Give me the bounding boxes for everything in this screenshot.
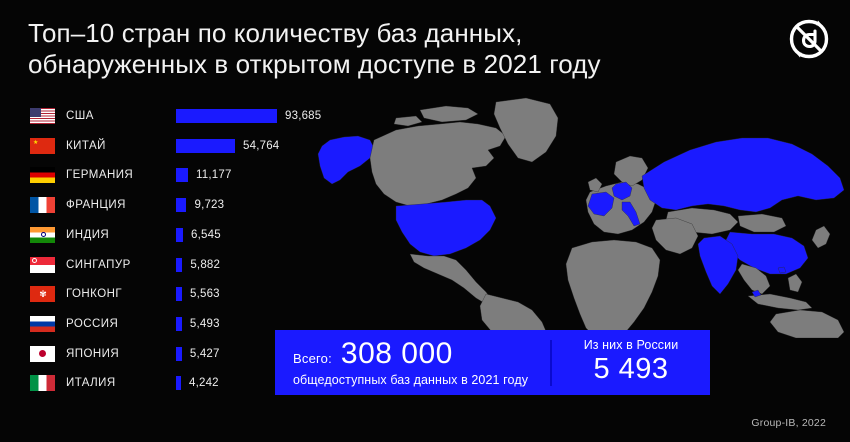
map-country-usa bbox=[396, 200, 496, 256]
summary-panel: Всего: 308 000 общедоступных баз данных … bbox=[275, 330, 710, 395]
map-country-russia bbox=[642, 138, 844, 212]
map-country-usa-alaska bbox=[318, 136, 374, 184]
source-credit: Group-IB, 2022 bbox=[751, 417, 826, 429]
map-continent-africa bbox=[566, 240, 660, 338]
bar-row: 4,242 bbox=[176, 373, 219, 393]
summary-total-label: Всего: bbox=[293, 351, 332, 366]
map-country-greenland bbox=[494, 98, 558, 162]
group-ib-logo bbox=[786, 16, 832, 62]
map-country-philippines bbox=[788, 274, 802, 292]
ranking-row: ИТАЛИЯ bbox=[30, 373, 116, 393]
bar-row: 9,723 bbox=[176, 195, 224, 215]
flag-icon-sg bbox=[30, 257, 55, 273]
bar-row: 5,493 bbox=[176, 314, 220, 334]
ranking-row: ЯПОНИЯ bbox=[30, 344, 119, 364]
summary-russia-label: Из них в России bbox=[552, 338, 710, 352]
bar-row: 5,882 bbox=[176, 255, 220, 275]
map-country-mexico bbox=[410, 254, 492, 304]
bar-value-label: 5,882 bbox=[190, 259, 220, 271]
page-title: Топ–10 стран по количеству баз данных, о… bbox=[28, 18, 728, 80]
country-name: СИНГАПУР bbox=[66, 259, 131, 271]
bar bbox=[176, 258, 182, 272]
bar-value-label: 4,242 bbox=[189, 377, 219, 389]
ranking-row: США bbox=[30, 106, 94, 126]
map-country-japan bbox=[812, 226, 830, 248]
flag-icon-de bbox=[30, 167, 55, 183]
ranking-row: ИНДИЯ bbox=[30, 225, 109, 245]
world-map bbox=[300, 88, 850, 338]
ranking-row: СИНГАПУР bbox=[30, 255, 131, 275]
map-arctic-islands bbox=[420, 106, 478, 122]
country-name: ИТАЛИЯ bbox=[66, 377, 116, 389]
bar-value-label: 6,545 bbox=[191, 229, 221, 241]
bar-value-label: 5,563 bbox=[190, 288, 220, 300]
bar-row: 11,177 bbox=[176, 165, 232, 185]
map-country-india bbox=[698, 236, 738, 294]
flag-icon-it bbox=[30, 375, 55, 391]
bar bbox=[176, 287, 182, 301]
bar-value-label: 54,764 bbox=[243, 140, 279, 152]
map-region-indonesia bbox=[748, 294, 812, 310]
bar-value-label: 5,427 bbox=[190, 348, 220, 360]
bar-row: 5,427 bbox=[176, 344, 220, 364]
bar bbox=[176, 198, 186, 212]
country-name: ФРАНЦИЯ bbox=[66, 199, 126, 211]
summary-russia-block: Из них в России 5 493 bbox=[552, 338, 710, 386]
country-name: США bbox=[66, 110, 94, 122]
bar-value-label: 93,685 bbox=[285, 110, 321, 122]
flag-icon-jp bbox=[30, 346, 55, 362]
bar bbox=[176, 168, 188, 182]
map-country-mongolia bbox=[738, 214, 786, 232]
summary-russia-value: 5 493 bbox=[552, 354, 710, 384]
country-name: ИНДИЯ bbox=[66, 229, 109, 241]
bar bbox=[176, 228, 183, 242]
map-country-canada bbox=[370, 122, 506, 206]
ranking-row: РОССИЯ bbox=[30, 314, 118, 334]
bar bbox=[176, 139, 235, 153]
flag-icon-in bbox=[30, 227, 55, 243]
flag-icon-us bbox=[30, 108, 55, 124]
map-arctic-islands-2 bbox=[394, 116, 422, 126]
flag-icon-hk: ✾ bbox=[30, 286, 55, 302]
country-name: ЯПОНИЯ bbox=[66, 348, 119, 360]
country-name: РОССИЯ bbox=[66, 318, 118, 330]
bar-row: 6,545 bbox=[176, 225, 221, 245]
bar-row: 5,563 bbox=[176, 284, 220, 304]
bar bbox=[176, 347, 182, 361]
map-continent-australia bbox=[770, 310, 844, 338]
ranking-row: ГЕРМАНИЯ bbox=[30, 165, 133, 185]
bar bbox=[176, 376, 181, 390]
flag-icon-fr bbox=[30, 197, 55, 213]
country-name: ГОНКОНГ bbox=[66, 288, 122, 300]
ranking-row: ★КИТАЙ bbox=[30, 136, 106, 156]
summary-total-block: Всего: 308 000 общедоступных баз данных … bbox=[275, 339, 550, 387]
bar bbox=[176, 317, 182, 331]
summary-total-subtitle: общедоступных баз данных в 2021 году bbox=[293, 373, 550, 387]
bar-row: 54,764 bbox=[176, 136, 279, 156]
bar-row: 93,685 bbox=[176, 106, 321, 126]
map-country-china bbox=[726, 232, 808, 274]
flag-icon-cn: ★ bbox=[30, 138, 55, 154]
country-name: КИТАЙ bbox=[66, 140, 106, 152]
bar-value-label: 9,723 bbox=[194, 199, 224, 211]
flag-icon-ru bbox=[30, 316, 55, 332]
bar bbox=[176, 109, 277, 123]
bar-value-label: 11,177 bbox=[196, 169, 232, 181]
bar-value-label: 5,493 bbox=[190, 318, 220, 330]
ranking-row: ФРАНЦИЯ bbox=[30, 195, 126, 215]
ranking-row: ✾ГОНКОНГ bbox=[30, 284, 122, 304]
country-name: ГЕРМАНИЯ bbox=[66, 169, 133, 181]
summary-total-value: 308 000 bbox=[341, 339, 453, 369]
